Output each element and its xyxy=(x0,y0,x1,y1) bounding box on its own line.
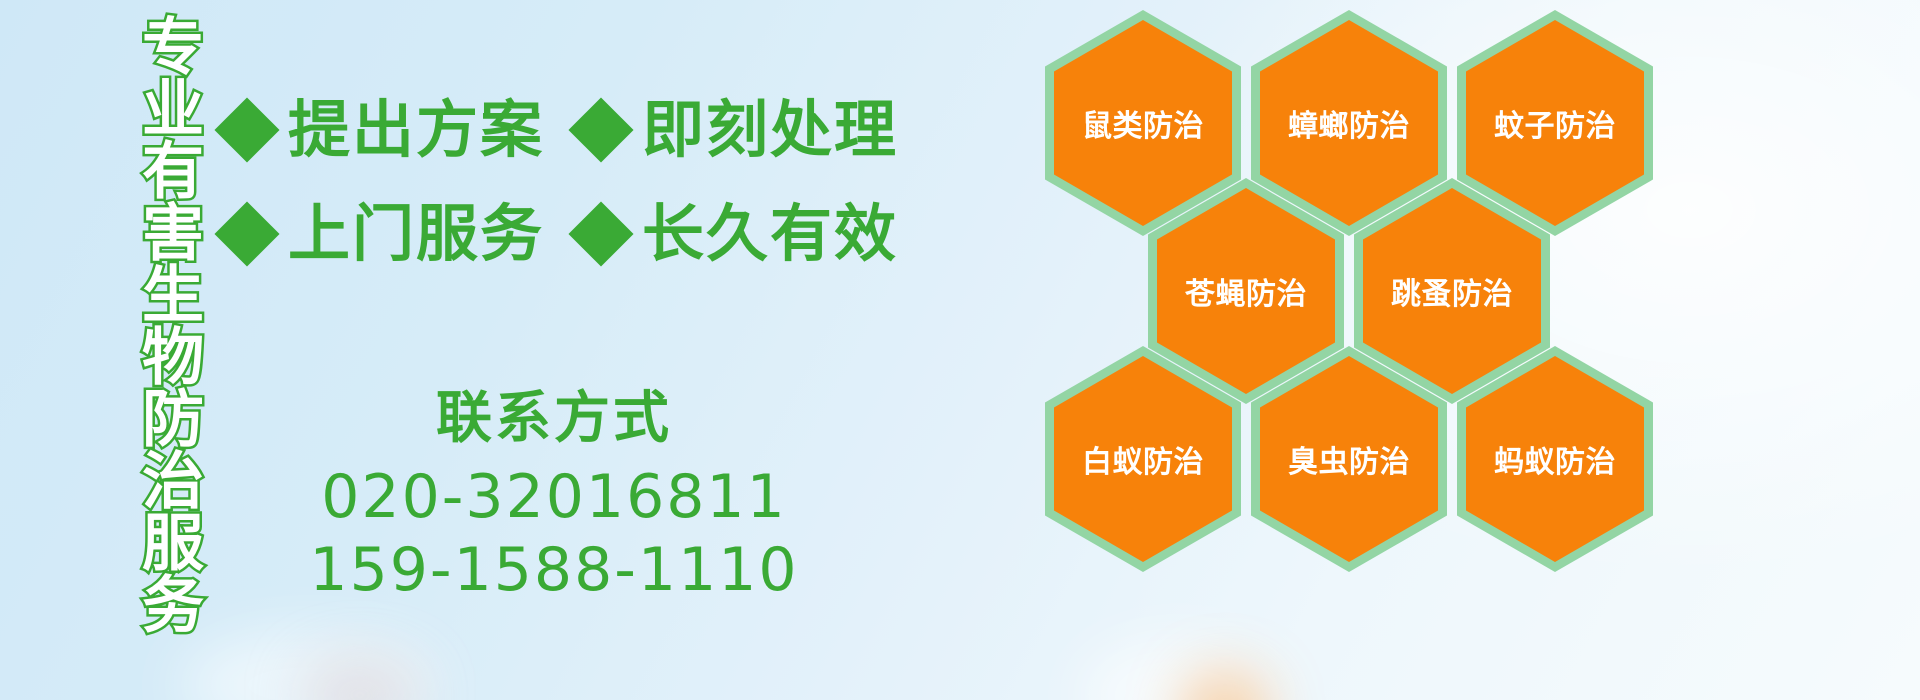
background-blur-blob xyxy=(300,660,420,700)
service-label: 臭虫防治 xyxy=(1288,437,1410,481)
service-label: 跳蚤防治 xyxy=(1391,269,1513,313)
diamond-icon xyxy=(214,201,279,266)
promo-banner: 专业有害生物防治服务 提出方案 即刻处理 上门服务 长久有效 联系方式 020-… xyxy=(0,0,1920,700)
feature-row: 上门服务 长久有效 xyxy=(224,182,884,286)
contact-heading: 联系方式 xyxy=(224,390,884,449)
service-label: 白蚁防治 xyxy=(1082,437,1204,481)
feature-label: 提出方案 xyxy=(288,99,544,161)
hex-inner: 跳蚤防治 xyxy=(1363,188,1541,394)
hex-inner: 白蚁防治 xyxy=(1054,356,1232,562)
diamond-icon xyxy=(214,97,279,162)
feature-label: 长久有效 xyxy=(642,203,898,265)
service-label: 蚂蚁防治 xyxy=(1494,437,1616,481)
hex-inner: 臭虫防治 xyxy=(1260,356,1438,562)
phone-number-landline[interactable]: 020-32016811 xyxy=(224,461,884,534)
feature-label: 即刻处理 xyxy=(642,99,898,161)
service-label: 蟑螂防治 xyxy=(1288,101,1410,145)
feature-row: 提出方案 即刻处理 xyxy=(224,78,884,182)
service-label: 苍蝇防治 xyxy=(1185,269,1307,313)
hex-inner: 鼠类防治 xyxy=(1054,20,1232,226)
hex-inner: 蚂蚁防治 xyxy=(1466,356,1644,562)
contact-block: 联系方式 020-32016811 159-1588-1110 xyxy=(224,390,884,607)
hex-inner: 蟑螂防治 xyxy=(1260,20,1438,226)
diamond-icon xyxy=(568,97,633,162)
hex-inner: 蚊子防治 xyxy=(1466,20,1644,226)
diamond-icon xyxy=(568,201,633,266)
service-honeycomb: 鼠类防治 蟑螂防治 蚊子防治 苍蝇防治 跳蚤防治 白蚁防治 xyxy=(1055,0,1655,700)
service-label: 蚊子防治 xyxy=(1494,101,1616,145)
background-blur-blob xyxy=(180,630,440,700)
feature-label: 上门服务 xyxy=(288,203,544,265)
vertical-headline: 专业有害生物防治服务 xyxy=(106,14,198,634)
service-label: 鼠类防治 xyxy=(1082,101,1204,145)
hex-inner: 苍蝇防治 xyxy=(1157,188,1335,394)
phone-number-mobile[interactable]: 159-1588-1110 xyxy=(224,534,884,607)
feature-list: 提出方案 即刻处理 上门服务 长久有效 xyxy=(224,78,884,286)
